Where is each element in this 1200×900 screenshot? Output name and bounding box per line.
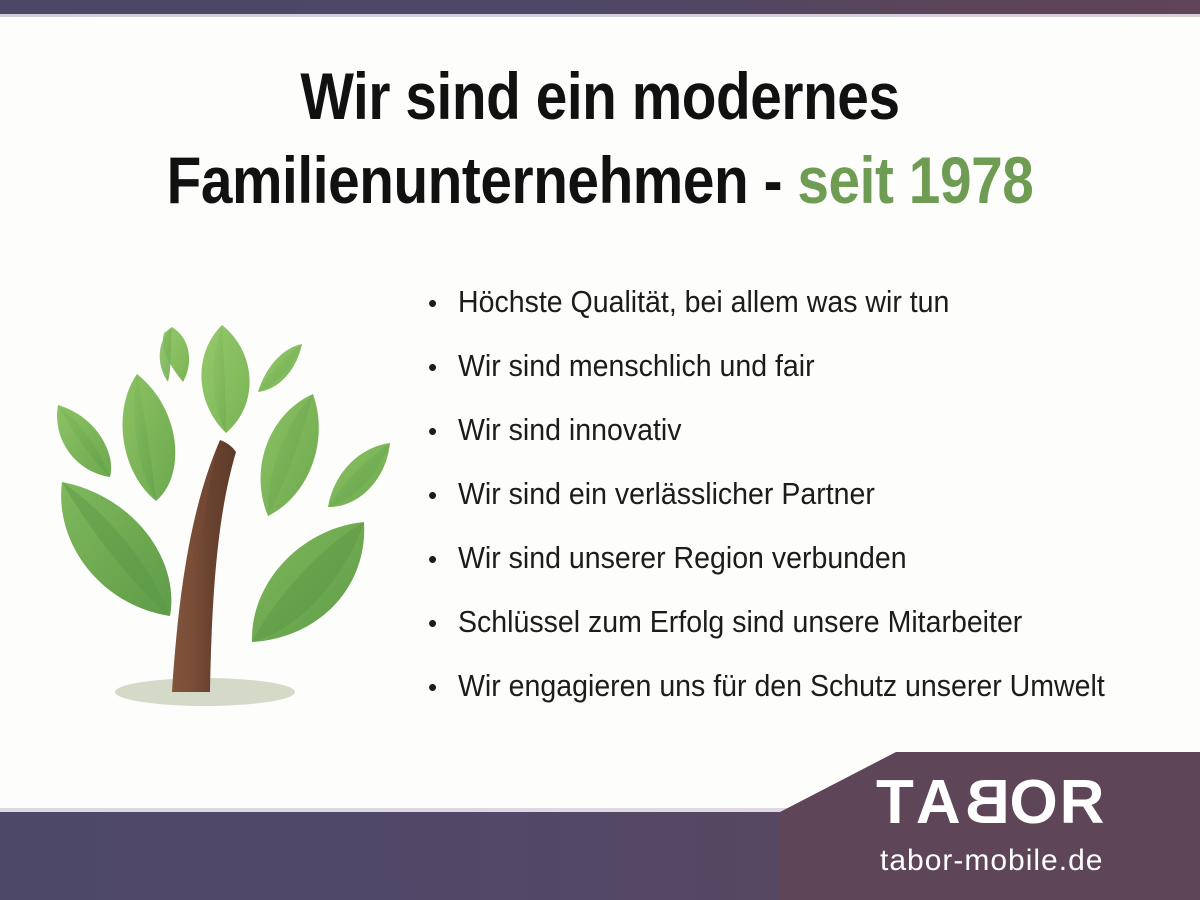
brand-letter-b-mirrored: B	[963, 772, 1010, 834]
brand-wordmark: TABOR	[876, 772, 1106, 834]
brand-website-url[interactable]: tabor-mobile.de	[880, 844, 1103, 878]
list-item: • Wir engagieren uns für den Schutz unse…	[428, 668, 1188, 732]
list-item-label: Wir sind ein verlässlicher Partner	[458, 476, 875, 512]
bullet-icon: •	[428, 546, 458, 572]
leaf-top-small-left	[160, 327, 189, 382]
leaf-far-right-upper	[328, 443, 390, 507]
brand-letter-r: R	[1060, 772, 1107, 834]
page-title-line-2: Familienunternehmen - seit 1978	[84, 138, 1116, 222]
list-item-label: Wir sind innovativ	[458, 412, 681, 448]
bullet-icon: •	[428, 418, 458, 444]
list-item-label: Höchste Qualität, bei allem was wir tun	[458, 284, 949, 320]
leaf-far-left-upper	[57, 405, 111, 477]
list-item-label: Schlüssel zum Erfolg sind unsere Mitarbe…	[458, 604, 1022, 640]
list-item-label: Wir sind menschlich und fair	[458, 348, 815, 384]
brand-letter-t: T	[876, 772, 916, 834]
list-item: • Schlüssel zum Erfolg sind unsere Mitar…	[428, 604, 1188, 668]
bullet-icon: •	[428, 610, 458, 636]
leaf-lower-right	[252, 522, 364, 642]
slide-canvas: Wir sind ein modernes Familienunternehme…	[0, 0, 1200, 900]
list-item: • Wir sind ein verlässlicher Partner	[428, 476, 1188, 540]
leaf-top-small-right	[258, 344, 302, 392]
page-title-line-1: Wir sind ein modernes	[84, 54, 1116, 138]
brand-letter-o: O	[1009, 772, 1059, 834]
list-item: • Wir sind innovativ	[428, 412, 1188, 476]
top-accent-bar-hairline	[0, 14, 1200, 17]
brand-logo-block[interactable]: TABOR tabor-mobile.de	[780, 752, 1200, 900]
top-accent-bar	[0, 0, 1200, 14]
page-title-accent: seit 1978	[797, 143, 1033, 217]
list-item: • Wir sind unserer Region verbunden	[428, 540, 1188, 604]
leaf-top-center	[201, 325, 249, 433]
list-item: • Höchste Qualität, bei allem was wir tu…	[428, 284, 1188, 348]
leaf-upper-right	[261, 394, 319, 516]
bullet-icon: •	[428, 674, 458, 700]
page-title: Wir sind ein modernes Familienunternehme…	[84, 54, 1116, 222]
list-item: • Wir sind menschlich und fair	[428, 348, 1188, 412]
list-item-label: Wir sind unserer Region verbunden	[458, 540, 907, 576]
bullet-icon: •	[428, 482, 458, 508]
leaf-upper-left	[123, 374, 176, 501]
list-item-label: Wir engagieren uns für den Schutz unsere…	[458, 668, 1105, 704]
brand-letter-a: A	[916, 772, 963, 834]
leaf-lower-left	[61, 482, 171, 616]
bullet-icon: •	[428, 354, 458, 380]
tree-illustration	[20, 300, 420, 720]
bullet-icon: •	[428, 290, 458, 316]
value-list: • Höchste Qualität, bei allem was wir tu…	[428, 284, 1188, 732]
page-title-line-2-main: Familienunternehmen -	[167, 143, 798, 217]
